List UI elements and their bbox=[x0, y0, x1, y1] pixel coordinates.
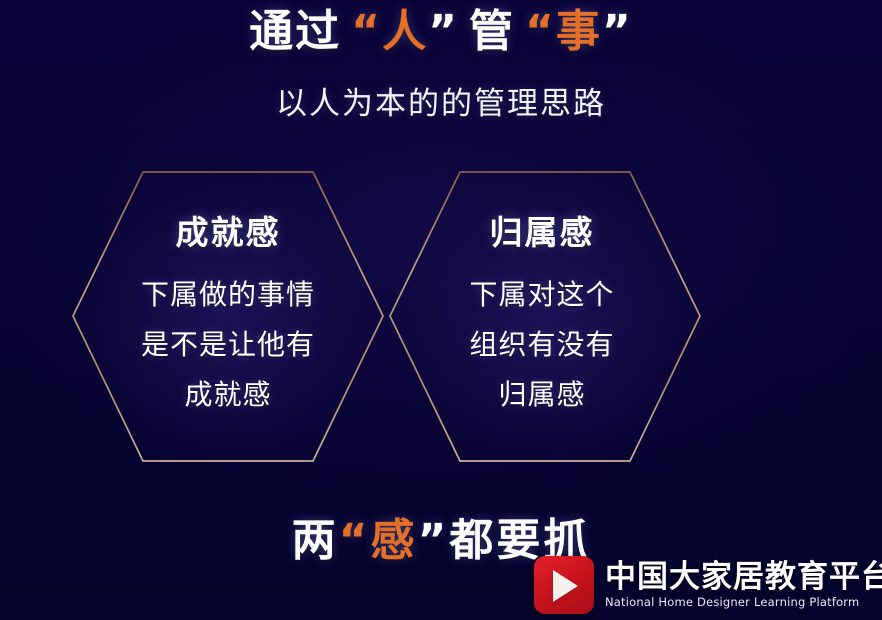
hexagon-left-line-1: 下属做的事情 bbox=[108, 270, 348, 320]
bottom-accent-gan: 感 bbox=[371, 515, 418, 566]
logo-name-en: National Home Designer Learning Platform bbox=[605, 594, 882, 610]
bottom-part-1: 两 bbox=[292, 515, 339, 566]
brand-logo: 中国大家居教育平台 National Home Designer Learnin… bbox=[534, 556, 882, 614]
slide-headline: 通过“人”管“事” bbox=[0, 4, 882, 60]
logo-wordmark: 中国大家居教育平台 National Home Designer Learnin… bbox=[605, 560, 882, 610]
hexagon-right-line-2: 组织有没有 bbox=[422, 320, 662, 370]
hexagon-right-line-3: 归属感 bbox=[422, 370, 662, 420]
slide-subtitle: 以人为本的的管理思路 bbox=[0, 78, 882, 123]
hexagon-left-line-3: 成就感 bbox=[108, 370, 348, 420]
hexagon-right-title: 归属感 bbox=[422, 212, 662, 254]
hexagon-right-content: 归属感 下属对这个 组织有没有 归属感 bbox=[422, 212, 662, 420]
headline-quote-close-2: ” bbox=[602, 6, 633, 57]
play-button-icon bbox=[534, 556, 594, 614]
hexagon-right-line-1: 下属对这个 bbox=[422, 270, 662, 320]
hexagon-left-content: 成就感 下属做的事情 是不是让他有 成就感 bbox=[108, 212, 348, 420]
play-triangle-icon bbox=[553, 570, 578, 602]
presentation-slide: 通过“人”管“事” 以人为本的的管理思路 成就感 下属做的事情 是不是让他有 成… bbox=[0, 0, 882, 620]
headline-quote-open-2: “ bbox=[525, 6, 556, 57]
bottom-quote-open: “ bbox=[339, 515, 371, 566]
headline-accent-ren: 人 bbox=[382, 6, 428, 57]
bottom-quote-close: ” bbox=[418, 515, 450, 566]
headline-part-1: 通过 bbox=[249, 6, 341, 57]
logo-name-cn: 中国大家居教育平台 bbox=[605, 560, 882, 594]
hexagon-left-line-2: 是不是让他有 bbox=[108, 320, 348, 370]
headline-part-2: 管 bbox=[469, 6, 515, 57]
headline-accent-shi: 事 bbox=[556, 6, 602, 57]
headline-quote-open-1: “ bbox=[351, 6, 382, 57]
headline-quote-close-1: ” bbox=[428, 6, 459, 57]
hexagon-left-title: 成就感 bbox=[108, 212, 348, 254]
